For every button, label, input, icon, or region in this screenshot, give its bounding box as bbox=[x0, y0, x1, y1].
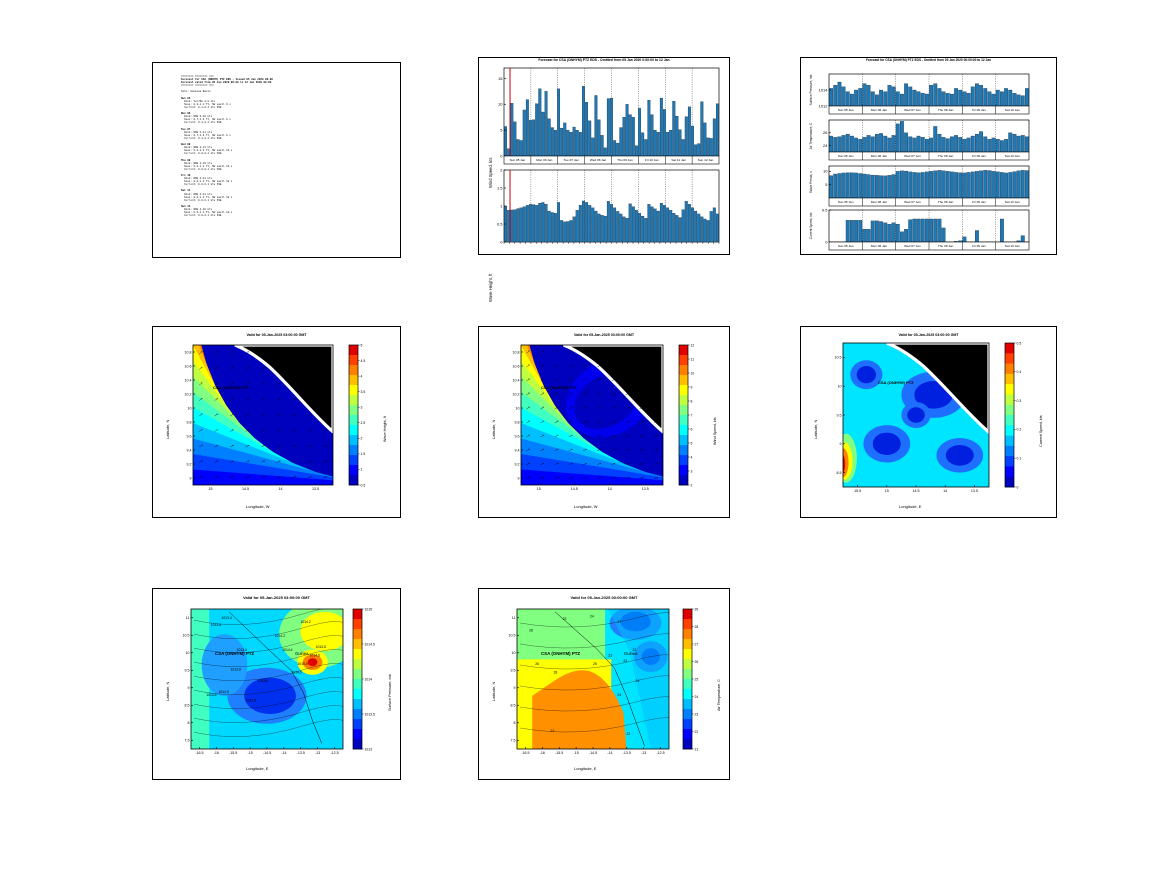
svg-text:9: 9 bbox=[188, 686, 190, 690]
svg-text:9: 9 bbox=[840, 442, 842, 446]
svg-text:Sat 10 Jan: Sat 10 Jan bbox=[1005, 108, 1020, 112]
svg-text:1014.0: 1014.0 bbox=[291, 670, 301, 674]
svg-text:28: 28 bbox=[553, 670, 557, 674]
svg-text:12: 12 bbox=[691, 343, 695, 347]
map-pressure-panel: Valid for 05-Jan-2025 03:00:00 GMT -16.5… bbox=[152, 588, 401, 780]
svg-text:0.2: 0.2 bbox=[1017, 428, 1022, 432]
svg-text:-16: -16 bbox=[214, 751, 219, 755]
svg-text:Thu 08 Jan: Thu 08 Jan bbox=[938, 154, 954, 158]
svg-text:24: 24 bbox=[823, 143, 828, 148]
svg-text:0: 0 bbox=[500, 239, 503, 244]
svg-text:Fri 09 Jan: Fri 09 Jan bbox=[972, 200, 986, 204]
svg-text:0.5: 0.5 bbox=[497, 221, 503, 226]
svg-text:0.5: 0.5 bbox=[822, 207, 828, 212]
svg-text:4: 4 bbox=[361, 374, 363, 378]
svg-text:5: 5 bbox=[361, 343, 363, 347]
svg-text:1014.2: 1014.2 bbox=[300, 620, 310, 624]
report-panel: ======== ======== ===Forecast for CSA (O… bbox=[152, 62, 401, 258]
map-pressure-xlabel: Longitude, E bbox=[246, 766, 268, 771]
svg-text:1: 1 bbox=[500, 203, 503, 208]
svg-text:14.5: 14.5 bbox=[571, 487, 578, 491]
svg-text:23: 23 bbox=[695, 712, 699, 716]
map-wind-site-label: CSA (ONHYM) PTZ bbox=[541, 385, 577, 390]
svg-text:10: 10 bbox=[498, 102, 503, 107]
svg-text:1013: 1013 bbox=[365, 747, 373, 751]
svg-text:9.4: 9.4 bbox=[187, 448, 192, 452]
svg-text:13.5: 13.5 bbox=[642, 487, 649, 491]
map-current-xlabel: Longitude, E bbox=[899, 504, 921, 509]
map-current-panel: Valid for 05-Jan-2025 03:00:00 GMT 15.51… bbox=[800, 326, 1057, 518]
svg-text:-13.5: -13.5 bbox=[623, 751, 631, 755]
svg-text:15.5: 15.5 bbox=[854, 489, 861, 493]
svg-text:10.5: 10.5 bbox=[835, 356, 842, 360]
svg-text:1: 1 bbox=[361, 468, 363, 472]
svg-text:21: 21 bbox=[695, 747, 699, 751]
svg-text:Wave Period, s: Wave Period, s bbox=[809, 171, 813, 193]
map-pressure-cbar-title: Surface Pressure, mb bbox=[388, 674, 392, 711]
svg-text:25: 25 bbox=[593, 662, 597, 666]
map-pressure-site-label: CSA (ONHYM) PTZ bbox=[215, 651, 254, 656]
svg-text:14: 14 bbox=[608, 487, 612, 491]
timeseries-multi-panel: Forecast for CSA (ONHYM) PTZ EDS - Omitt… bbox=[800, 57, 1057, 255]
svg-text:8.5: 8.5 bbox=[185, 704, 190, 708]
map-current-plot: 15.51514.51413.510.5109.598.50.50.40.30.… bbox=[801, 327, 1058, 519]
svg-text:4.5: 4.5 bbox=[361, 359, 366, 363]
svg-text:8.5: 8.5 bbox=[511, 704, 516, 708]
svg-text:29: 29 bbox=[695, 607, 699, 611]
svg-text:6: 6 bbox=[691, 427, 693, 431]
map-airtemp-ylabel: Latitude, N bbox=[491, 682, 496, 701]
map-airtemp-city-label: Guinea bbox=[624, 651, 638, 656]
svg-text:Sun 05 Jan: Sun 05 Jan bbox=[838, 154, 854, 158]
svg-text:9.6: 9.6 bbox=[515, 434, 520, 438]
svg-text:-13: -13 bbox=[315, 751, 320, 755]
svg-text:22: 22 bbox=[695, 730, 699, 734]
svg-text:14: 14 bbox=[943, 489, 947, 493]
svg-text:10: 10 bbox=[691, 371, 695, 375]
svg-text:0: 0 bbox=[500, 153, 503, 158]
svg-text:-16: -16 bbox=[540, 751, 545, 755]
timeseries-wind-wave-plot: 051015Sun 05 JanMon 06 JanTue 07 JanWed … bbox=[479, 58, 731, 256]
svg-text:5: 5 bbox=[691, 441, 693, 445]
svg-text:10.4: 10.4 bbox=[185, 378, 192, 382]
svg-text:-14.5: -14.5 bbox=[263, 751, 271, 755]
svg-text:Surface Pressure, mb: Surface Pressure, mb bbox=[809, 74, 813, 105]
map-current-site-label: CSA (ONHYM) PTZ bbox=[878, 380, 914, 385]
svg-text:28: 28 bbox=[695, 625, 699, 629]
svg-text:0.1: 0.1 bbox=[1017, 457, 1022, 461]
svg-text:10: 10 bbox=[186, 651, 190, 655]
svg-text:7.5: 7.5 bbox=[185, 739, 190, 743]
svg-text:Sun 12 Jan: Sun 12 Jan bbox=[698, 158, 714, 162]
svg-text:1013.5: 1013.5 bbox=[365, 712, 375, 716]
svg-text:1013.8: 1013.8 bbox=[231, 668, 241, 672]
svg-text:1014: 1014 bbox=[819, 87, 829, 92]
svg-text:1014.6: 1014.6 bbox=[310, 654, 320, 658]
svg-text:26: 26 bbox=[823, 130, 828, 135]
svg-text:5: 5 bbox=[500, 128, 503, 133]
svg-text:14.5: 14.5 bbox=[913, 489, 920, 493]
svg-text:0.5: 0.5 bbox=[361, 483, 366, 487]
svg-text:8: 8 bbox=[514, 721, 516, 725]
svg-text:1014.2: 1014.2 bbox=[275, 634, 285, 638]
svg-text:9.2: 9.2 bbox=[515, 462, 520, 466]
svg-text:0: 0 bbox=[1017, 485, 1019, 489]
svg-text:Thu 08 Jan: Thu 08 Jan bbox=[938, 244, 954, 248]
map-wave-plot: 1514.51413.510.810.610.410.2109.89.69.49… bbox=[153, 327, 402, 519]
svg-text:8: 8 bbox=[691, 399, 693, 403]
svg-text:-14: -14 bbox=[607, 751, 612, 755]
svg-text:10: 10 bbox=[512, 651, 516, 655]
svg-text:1014.0: 1014.0 bbox=[218, 690, 228, 694]
svg-text:9.8: 9.8 bbox=[187, 420, 192, 424]
svg-text:9: 9 bbox=[518, 476, 520, 480]
svg-text:13.5: 13.5 bbox=[971, 489, 978, 493]
svg-text:Sun 05 Jan: Sun 05 Jan bbox=[838, 108, 854, 112]
svg-text:Thu 08 Jan: Thu 08 Jan bbox=[938, 108, 954, 112]
map-current-cbar-title: Current Speed, kts bbox=[1039, 415, 1043, 447]
svg-text:11: 11 bbox=[186, 616, 190, 620]
map-wave-xlabel: Longitude, W bbox=[246, 504, 270, 509]
svg-text:27: 27 bbox=[695, 642, 699, 646]
svg-text:10.8: 10.8 bbox=[185, 350, 192, 354]
svg-text:10.5: 10.5 bbox=[183, 634, 190, 638]
svg-text:4: 4 bbox=[691, 455, 693, 459]
svg-text:9: 9 bbox=[190, 476, 192, 480]
svg-text:-13.5: -13.5 bbox=[297, 751, 305, 755]
svg-text:3: 3 bbox=[361, 406, 363, 410]
svg-text:27: 27 bbox=[617, 620, 621, 624]
svg-text:10: 10 bbox=[823, 169, 828, 174]
map-wind-panel: Valid for 05-Jan-2025 03:00:00 GMT 1514.… bbox=[478, 326, 730, 518]
map-pressure-plot: -16.5-16-15.5-15-14.5-14-13.5-13-12.5111… bbox=[153, 589, 402, 781]
svg-text:1015.0: 1015.0 bbox=[297, 662, 307, 666]
wave-height-axis-label: Wave Height, ft bbox=[488, 274, 493, 302]
svg-text:-16.5: -16.5 bbox=[195, 751, 203, 755]
map-wind-plot: 1514.51413.510.810.610.410.2109.89.69.49… bbox=[479, 327, 731, 519]
svg-text:1.5: 1.5 bbox=[361, 452, 366, 456]
svg-text:10.6: 10.6 bbox=[513, 364, 520, 368]
svg-text:13.5: 13.5 bbox=[312, 487, 319, 491]
svg-text:11: 11 bbox=[691, 357, 695, 361]
svg-text:-15.5: -15.5 bbox=[555, 751, 563, 755]
timeseries-multi-plot: 10121014Sun 05 JanMon 06 JanWed 07 JanTh… bbox=[801, 58, 1058, 256]
svg-text:28: 28 bbox=[529, 628, 533, 632]
svg-text:Tue 07 Jan: Tue 07 Jan bbox=[564, 158, 580, 162]
svg-text:-16.5: -16.5 bbox=[521, 751, 529, 755]
map-airtemp-plot: -16.5-16-15.5-15-14.5-14-13.5-13-12.5111… bbox=[479, 589, 731, 781]
map-wave-panel: Valid for 05-Jan-2025 03:00:00 GMT 1514.… bbox=[152, 326, 401, 518]
svg-text:3: 3 bbox=[691, 469, 693, 473]
map-wave-site-label: CSA (ONHYM) PTZ bbox=[213, 385, 249, 390]
svg-text:2: 2 bbox=[361, 437, 363, 441]
svg-text:23: 23 bbox=[623, 659, 627, 663]
svg-text:-15: -15 bbox=[574, 751, 579, 755]
svg-text:9.2: 9.2 bbox=[187, 462, 192, 466]
svg-text:15: 15 bbox=[498, 76, 503, 81]
svg-text:1013.8: 1013.8 bbox=[316, 645, 326, 649]
svg-text:15: 15 bbox=[209, 487, 213, 491]
svg-text:9.6: 9.6 bbox=[187, 434, 192, 438]
svg-text:1013.6: 1013.6 bbox=[211, 623, 221, 627]
svg-text:Sat 11 Jan: Sat 11 Jan bbox=[671, 158, 686, 162]
svg-text:1015: 1015 bbox=[365, 607, 373, 611]
svg-text:1012: 1012 bbox=[819, 103, 829, 108]
svg-text:15: 15 bbox=[537, 487, 541, 491]
svg-text:-15: -15 bbox=[248, 751, 253, 755]
timeseries-wind-wave-panel: Forecast for CSA (ONHYM) PTZ EDS - Omitt… bbox=[478, 57, 730, 255]
svg-text:Fri 09 Jan: Fri 09 Jan bbox=[972, 154, 986, 158]
svg-text:Sun 05 Jan: Sun 05 Jan bbox=[838, 244, 854, 248]
map-current-ylabel: Latitude, N bbox=[813, 420, 818, 439]
svg-text:9.5: 9.5 bbox=[185, 669, 190, 673]
svg-text:21: 21 bbox=[550, 729, 554, 733]
svg-text:8.5: 8.5 bbox=[837, 471, 842, 475]
svg-text:Wed 07 Jan: Wed 07 Jan bbox=[904, 200, 921, 204]
svg-text:-14.5: -14.5 bbox=[589, 751, 597, 755]
svg-text:10.2: 10.2 bbox=[513, 392, 520, 396]
svg-text:24: 24 bbox=[636, 679, 640, 683]
map-pressure-city-label: Guinea bbox=[295, 651, 309, 656]
svg-text:7: 7 bbox=[691, 413, 693, 417]
svg-text:-13: -13 bbox=[641, 751, 646, 755]
map-pressure-ylabel: Latitude, N bbox=[165, 682, 170, 701]
svg-text:23: 23 bbox=[608, 654, 612, 658]
svg-text:1013.4: 1013.4 bbox=[221, 616, 231, 620]
svg-text:Fri 09 Jan: Fri 09 Jan bbox=[972, 244, 986, 248]
svg-text:Wed 07 Jan: Wed 07 Jan bbox=[904, 244, 921, 248]
svg-text:9: 9 bbox=[691, 385, 693, 389]
svg-text:0: 0 bbox=[825, 239, 828, 244]
svg-text:10.5: 10.5 bbox=[509, 634, 516, 638]
map-airtemp-panel: Valid for 05-Jan-2025 03:00:00 GMT -16.5… bbox=[478, 588, 730, 780]
svg-text:14.5: 14.5 bbox=[242, 487, 249, 491]
svg-text:10: 10 bbox=[188, 406, 192, 410]
svg-text:9: 9 bbox=[514, 686, 516, 690]
svg-text:10.2: 10.2 bbox=[185, 392, 192, 396]
map-airtemp-xlabel: Longitude, E bbox=[574, 766, 596, 771]
svg-text:10: 10 bbox=[838, 385, 842, 389]
svg-text:22: 22 bbox=[626, 732, 630, 736]
map-wind-ylabel: Latitude, N bbox=[491, 420, 496, 439]
map-wind-cbar-title: Wind Speed, kts bbox=[713, 417, 717, 445]
svg-text:Sat 10 Jan: Sat 10 Jan bbox=[1005, 244, 1020, 248]
svg-text:Air Temperature, C: Air Temperature, C bbox=[809, 122, 813, 149]
svg-text:Sun 05 Jan: Sun 05 Jan bbox=[838, 200, 854, 204]
svg-text:2: 2 bbox=[691, 483, 693, 487]
svg-text:-12.5: -12.5 bbox=[330, 751, 338, 755]
svg-text:Wed 07 Jan: Wed 07 Jan bbox=[904, 108, 921, 112]
svg-text:1014.5: 1014.5 bbox=[365, 642, 375, 646]
svg-text:-15.5: -15.5 bbox=[229, 751, 237, 755]
svg-text:3.5: 3.5 bbox=[361, 390, 366, 394]
svg-text:23: 23 bbox=[563, 617, 567, 621]
svg-text:Mon 06 Jan: Mon 06 Jan bbox=[536, 158, 552, 162]
svg-text:9.5: 9.5 bbox=[511, 669, 516, 673]
svg-text:0.3: 0.3 bbox=[1017, 399, 1022, 403]
svg-text:5: 5 bbox=[825, 182, 828, 187]
svg-text:Mon 06 Jan: Mon 06 Jan bbox=[871, 244, 887, 248]
svg-text:Sat 10 Jan: Sat 10 Jan bbox=[1005, 154, 1020, 158]
map-wave-cbar-title: Wave Height, ft bbox=[383, 416, 387, 442]
svg-text:15: 15 bbox=[885, 489, 889, 493]
svg-text:1014.4: 1014.4 bbox=[282, 648, 292, 652]
svg-text:10.8: 10.8 bbox=[513, 350, 520, 354]
svg-text:9.8: 9.8 bbox=[515, 420, 520, 424]
svg-text:-12.5: -12.5 bbox=[656, 751, 664, 755]
svg-text:1.5: 1.5 bbox=[497, 185, 503, 190]
svg-text:2: 2 bbox=[500, 167, 503, 172]
svg-text:2.5: 2.5 bbox=[361, 421, 366, 425]
svg-text:Mon 06 Jan: Mon 06 Jan bbox=[871, 108, 887, 112]
map-airtemp-site-label: CSA (ONHYM) PTZ bbox=[541, 651, 580, 656]
svg-text:1013.6: 1013.6 bbox=[258, 679, 268, 683]
svg-text:1014: 1014 bbox=[365, 677, 373, 681]
map-wind-xlabel: Longitude, W bbox=[574, 504, 598, 509]
svg-text:1013.6: 1013.6 bbox=[206, 693, 216, 697]
svg-text:24: 24 bbox=[695, 695, 699, 699]
svg-text:10.6: 10.6 bbox=[185, 364, 192, 368]
svg-text:Thu 08 Jan: Thu 08 Jan bbox=[938, 200, 954, 204]
map-wave-ylabel: Latitude, N bbox=[165, 420, 170, 439]
svg-text:Wed 08 Jan: Wed 08 Jan bbox=[590, 158, 607, 162]
svg-text:Fri 09 Jan: Fri 09 Jan bbox=[972, 108, 986, 112]
svg-text:0.4: 0.4 bbox=[1017, 370, 1022, 374]
svg-text:9.5: 9.5 bbox=[837, 413, 842, 417]
svg-text:10.4: 10.4 bbox=[513, 378, 520, 382]
svg-text:Mon 06 Jan: Mon 06 Jan bbox=[871, 200, 887, 204]
svg-text:Current Speed, kts: Current Speed, kts bbox=[809, 212, 813, 239]
svg-text:8: 8 bbox=[188, 721, 190, 725]
svg-text:-14: -14 bbox=[281, 751, 286, 755]
map-airtemp-cbar-title: Air Temperature, C bbox=[717, 679, 721, 711]
svg-text:24: 24 bbox=[617, 693, 621, 697]
svg-text:26: 26 bbox=[535, 662, 539, 666]
svg-text:Wed 07 Jan: Wed 07 Jan bbox=[904, 154, 921, 158]
svg-text:14: 14 bbox=[279, 487, 283, 491]
svg-text:Sat 10 Jan: Sat 10 Jan bbox=[1005, 200, 1020, 204]
svg-text:10: 10 bbox=[516, 406, 520, 410]
svg-text:Fri 10 Jan: Fri 10 Jan bbox=[645, 158, 659, 162]
svg-text:24: 24 bbox=[590, 614, 594, 618]
svg-text:26: 26 bbox=[695, 660, 699, 664]
svg-text:25: 25 bbox=[695, 677, 699, 681]
svg-text:11: 11 bbox=[512, 616, 516, 620]
svg-text:Mon 06 Jan: Mon 06 Jan bbox=[871, 154, 887, 158]
svg-text:9.4: 9.4 bbox=[515, 448, 520, 452]
report-text-body: ======== ======== ===Forecast for CSA (O… bbox=[181, 75, 381, 247]
svg-text:Thu 09 Jan: Thu 09 Jan bbox=[617, 158, 633, 162]
svg-text:7.5: 7.5 bbox=[511, 739, 516, 743]
svg-text:1013.8: 1013.8 bbox=[246, 698, 256, 702]
svg-text:0.5: 0.5 bbox=[1017, 341, 1022, 345]
svg-text:Sun 05 Jan: Sun 05 Jan bbox=[510, 158, 526, 162]
